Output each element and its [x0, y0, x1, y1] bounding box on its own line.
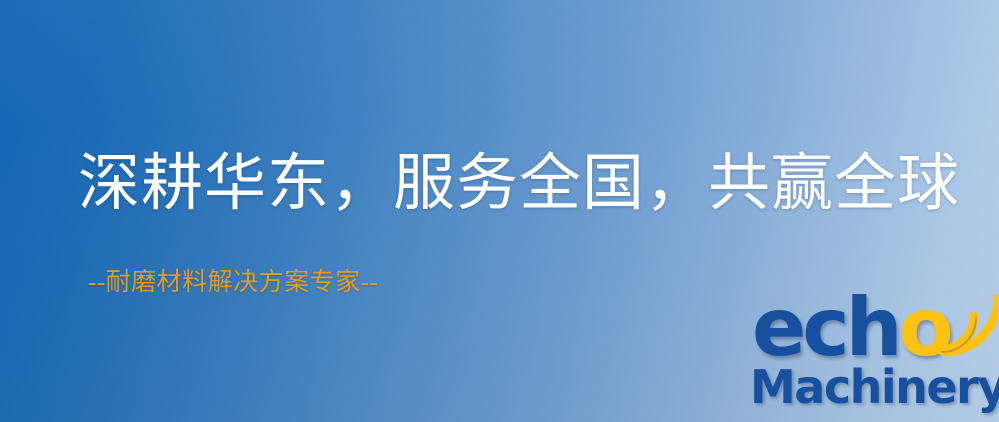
- echo-wave-arcs-icon: [926, 294, 998, 364]
- logo-subtext-row: Machinery ®: [750, 362, 999, 412]
- promotional-banner: 深耕华东，服务全国，共赢全球 --耐磨材料解决方案专家-- echo Machi…: [0, 0, 999, 422]
- banner-headline: 深耕华东，服务全国，共赢全球: [78, 145, 958, 223]
- echo-machinery-logo[interactable]: echo Machinery ®: [748, 296, 999, 422]
- logo-subtext: Machinery: [750, 362, 999, 412]
- banner-subtitle: --耐磨材料解决方案专家--: [88, 268, 378, 298]
- logo-wordmark-text: echo: [752, 288, 950, 368]
